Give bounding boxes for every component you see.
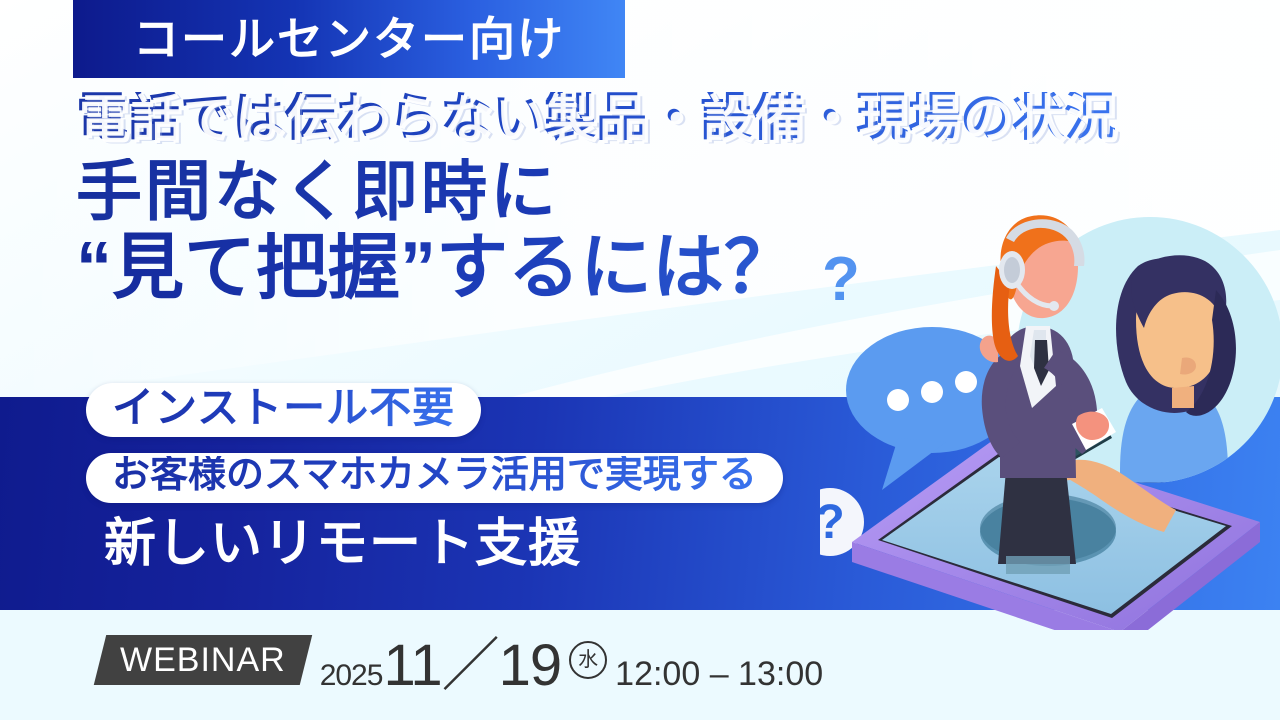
footer-schedule: WEBINAR 2025 11／19 水 12:00 – 13:00 (100, 628, 823, 692)
feature-pill-2-label: お客様のスマホカメラ活用で実現する (112, 456, 757, 496)
webinar-tag: WEBINAR (94, 635, 312, 685)
headline-block: 電話では伝わらない製品・設備・現場の状況 手間なく即時に “見て把握”するには？ (76, 92, 1116, 304)
feature-pill-1: インストール不要 (86, 383, 481, 437)
date-year: 2025 (320, 659, 383, 693)
date-month-day: 11／19 (383, 618, 561, 702)
pill-shape: お客様のスマホカメラ活用で実現する (86, 453, 783, 503)
customer-figure (1116, 255, 1236, 504)
headline-line-2: 手間なく即時に (76, 158, 1116, 224)
agent-skirt (998, 470, 1076, 564)
top-badge: コールセンター向け (73, 0, 625, 78)
webinar-tag-label: WEBINAR (120, 643, 286, 677)
date-time-block: 2025 11／19 水 12:00 – 13:00 (320, 618, 823, 702)
feature-pill-1-label: インストール不要 (112, 386, 455, 430)
pill-shape: インストール不要 (86, 383, 481, 437)
top-badge-label: コールセンター向け (133, 16, 565, 62)
headline-line-1: 電話では伝わらない製品・設備・現場の状況 (76, 92, 1116, 144)
time-range: 12:00 – 13:00 (615, 655, 823, 694)
svg-text:?: ? (820, 496, 845, 549)
weekday-badge: 水 (569, 641, 607, 679)
band-headline: 新しいリモート支援 (104, 518, 581, 570)
webinar-banner: ? ? (0, 0, 1280, 720)
headline-line-3: “見て把握”するには？ (76, 232, 1116, 304)
feature-pill-2: お客様のスマホカメラ活用で実現する (86, 453, 783, 503)
